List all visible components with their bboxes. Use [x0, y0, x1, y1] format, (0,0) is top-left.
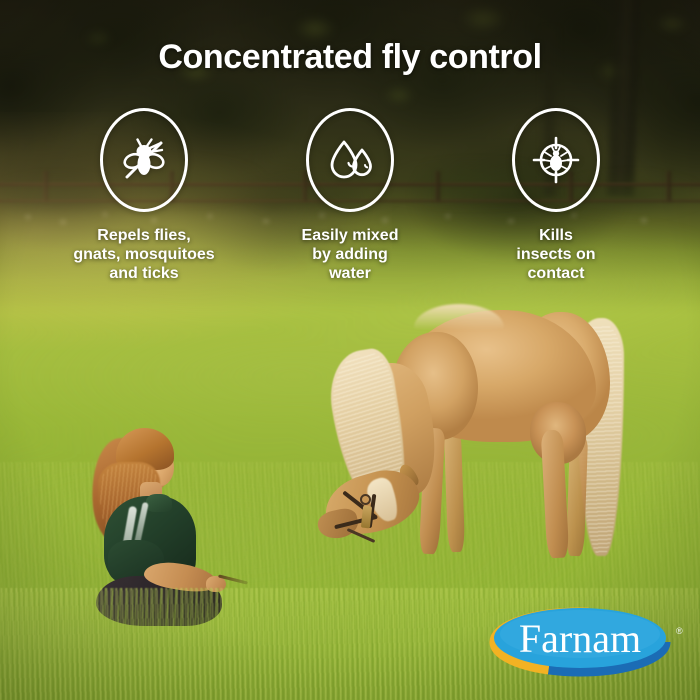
feature-list: Repels flies, gnats, mosquitoes and tick…	[0, 108, 700, 284]
advertisement-banner: Concentrated fly control	[0, 0, 700, 700]
feature-item-mixing: Easily mixed by adding water	[275, 108, 425, 284]
farnam-logo: Farnam ®	[480, 600, 692, 678]
water-droplets-icon	[306, 108, 394, 212]
marketing-overlay: Concentrated fly control	[0, 0, 700, 700]
headline: Concentrated fly control	[0, 38, 700, 77]
registered-trademark-mark: ®	[676, 626, 683, 636]
fly-repel-icon	[100, 108, 188, 212]
feature-item-kills: Kills insects on contact	[481, 108, 631, 284]
feature-label: Kills insects on contact	[516, 226, 595, 284]
logo-wordmark: Farnam	[519, 616, 641, 661]
feature-label: Easily mixed by adding water	[302, 226, 399, 284]
feature-item-repels: Repels flies, gnats, mosquitoes and tick…	[69, 108, 219, 284]
tick-crosshair-icon	[512, 108, 600, 212]
feature-label: Repels flies, gnats, mosquitoes and tick…	[73, 226, 214, 284]
